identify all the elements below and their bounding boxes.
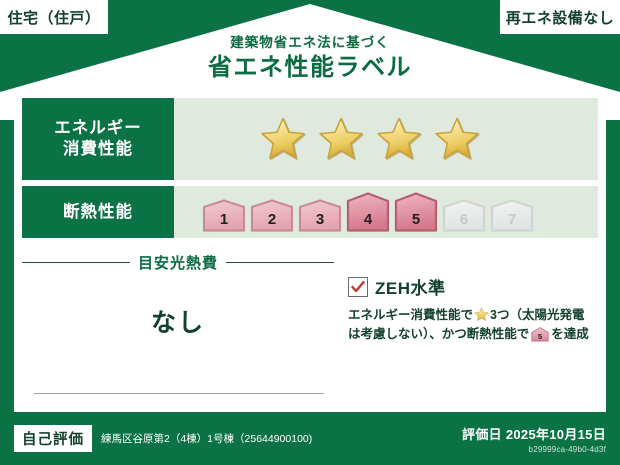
label-footer: 自己評価 練馬区谷原第2（4棟）1号棟（25644900100) 評価日 202… [0,412,620,465]
zeh-desc-line2-b: を達成 [551,327,589,341]
rule-right [226,262,334,263]
insulation-grade-2: 2 [250,199,294,232]
energy-performance-row: エネルギー 消費性能 [22,98,598,180]
page-title: 省エネ性能ラベル [0,55,620,81]
star-icon [318,116,364,162]
zeh-checkbox[interactable] [348,277,368,297]
insulation-label-line1: 断熱性能 [63,202,133,223]
zeh-panel: ZEH水準 エネルギー消費性能で3つ（太陽光発電 は考慮しない）、かつ断熱性能で… [334,246,598,404]
energy-performance-label: エネルギー 消費性能 [22,98,174,180]
star-icon [376,116,422,162]
insulation-grade-scale: 1234567 [202,192,534,232]
utility-cost-bottom-rule [34,393,324,394]
energy-star-rating [174,98,598,180]
property-name: 練馬区谷原第2（4棟）1号棟（25644900100) [101,431,462,446]
svg-text:5: 5 [538,332,543,341]
grade-number: 4 [346,211,390,228]
insulation-grade-3: 3 [298,199,342,232]
star-icon [260,116,306,162]
evaluation-date: 評価日 2025年10月15日 [462,424,606,443]
insulation-grade-area: 1234567 [174,186,598,238]
energy-label-line1: エネルギー [54,118,142,139]
document-id: b29999ca-49b0-4d3f [462,445,606,454]
utility-cost-heading: 目安光熱費 [22,252,334,273]
zeh-desc-line1-b: 3つ（太陽光発電 [490,308,584,322]
footer-meta: 評価日 2025年10月15日 b29999ca-49b0-4d3f [462,424,606,454]
insulation-performance-label: 断熱性能 [22,186,174,238]
grade-number: 7 [490,211,534,228]
lower-section: 目安光熱費 なし ZEH水準 エネルギー消費性能で3つ（太陽光発電 [22,246,598,404]
energy-performance-label: 住宅（住戸） 再エネ設備なし 建築物省エネ法に基づく 省エネ性能ラベル エネルギ… [0,0,620,465]
zeh-desc-line1-a: エネルギー消費性能で [348,308,473,322]
insulation-performance-row: 断熱性能 1234567 [22,186,598,238]
rule-left [22,262,130,263]
insulation-grade-6: 6 [442,199,486,232]
grade-number: 2 [250,211,294,228]
grade-number: 6 [442,211,486,228]
self-evaluation-badge: 自己評価 [14,425,92,452]
grade-number: 3 [298,211,342,228]
zeh-description: エネルギー消費性能で3つ（太陽光発電 は考慮しない）、かつ断熱性能で5を達成 [348,306,598,349]
label-card: エネルギー 消費性能 断熱性能 1234567 目安光熱費 なし [14,90,606,412]
housing-type-tag: 住宅（住戸） [0,0,108,34]
utility-cost-title: 目安光熱費 [138,252,218,273]
insulation-grade-5: 5 [394,192,438,232]
insulation-grade-7: 7 [490,199,534,232]
zeh-desc-line2-a: は考慮しない）、かつ断熱性能で [348,327,529,341]
grade-number: 1 [202,211,246,228]
zeh-heading: ZEH水準 [348,274,598,299]
star-icon [434,116,480,162]
check-icon [351,281,365,293]
inline-star-icon [474,307,489,322]
insulation-grade-1: 1 [202,199,246,232]
zeh-title: ZEH水準 [375,274,446,299]
renewable-equipment-tag: 再エネ設備なし [500,0,620,34]
label-title-block: 建築物省エネ法に基づく 省エネ性能ラベル [0,36,620,81]
utility-cost-value: なし [22,303,334,339]
insulation-grade-4: 4 [346,192,390,232]
grade-number: 5 [394,211,438,228]
title-subtitle: 建築物省エネ法に基づく [0,36,620,51]
inline-grade-badge: 5 [531,331,549,345]
utility-cost-panel: 目安光熱費 なし [22,246,334,404]
energy-label-line2: 消費性能 [63,139,133,160]
